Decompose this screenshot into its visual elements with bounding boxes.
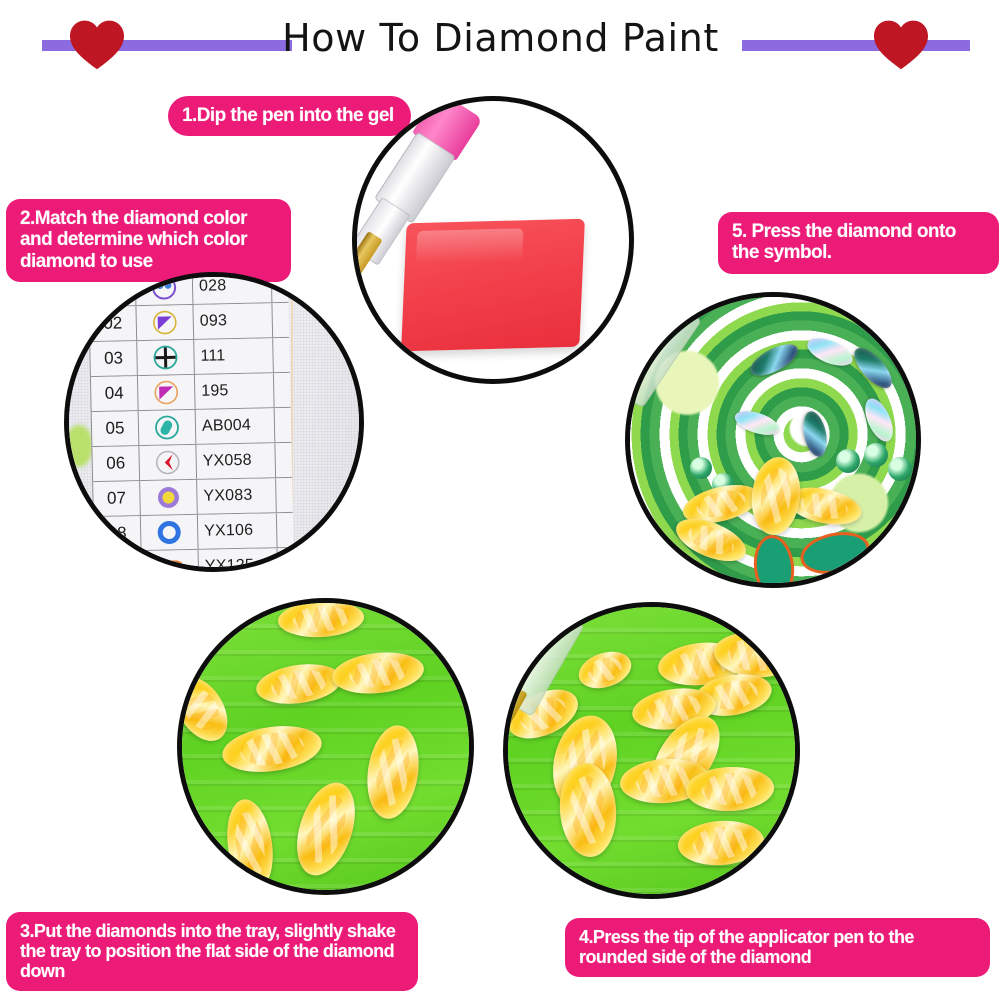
cell-dmc: AB004: [196, 408, 276, 444]
symbol-legend-table: 01 028 02 093: [88, 272, 295, 572]
cell-code: 04: [90, 376, 139, 411]
cell-code: 06: [91, 446, 140, 481]
cell-dmc: 093: [193, 303, 273, 339]
capsule-teal-icon: [139, 410, 197, 445]
photo-diamonds-in-tray: [177, 598, 474, 895]
round-diamond: [864, 443, 888, 467]
photo-symbol-chart: 01 028 02 093: [64, 272, 364, 572]
ring-blue-icon: [141, 515, 199, 550]
cell-code: 01: [88, 272, 137, 306]
triangle-flag-purple-icon: [136, 305, 194, 340]
step-3-caption: 3.Put the diamonds into the tray, slight…: [6, 912, 418, 991]
round-diamond: [690, 457, 712, 479]
photo-pen-dipping-gel: [352, 96, 634, 384]
step-4-caption: 4.Press the tip of the applicator pen to…: [565, 918, 990, 977]
scene-tray: [182, 603, 469, 890]
plus-cross-teal-icon: [137, 340, 195, 375]
cell-dmc: 028: [193, 272, 273, 304]
table-row: 05 AB004: [91, 408, 292, 447]
chevron-left-red-icon: [139, 445, 197, 480]
step-2-caption: 2.Match the diamond color and determine …: [6, 199, 291, 282]
scene-mandala: [630, 297, 916, 583]
cell-dmc: 111: [194, 338, 274, 374]
cell-dmc: YX083: [197, 478, 277, 514]
page-title: How To Diamond Paint: [0, 16, 1001, 60]
cell-code: 03: [89, 341, 138, 376]
cell-dmc: 195: [195, 373, 275, 409]
round-diamond: [836, 449, 860, 473]
photo-pen-picking-diamond: [503, 602, 800, 899]
triangle-flag-magenta-icon: [138, 375, 196, 410]
photo-press-diamond-canvas: [625, 292, 921, 588]
eyes-purple-icon: [136, 272, 194, 305]
header-banner: How To Diamond Paint: [0, 0, 1001, 88]
cell-code: 08: [93, 516, 142, 551]
table-row: 07 YX083: [92, 478, 293, 517]
table-row: 02 093: [88, 303, 289, 342]
scene-gel: [357, 101, 629, 379]
scene-tray-pen: [508, 607, 795, 894]
canvas-print-blob: [65, 425, 93, 467]
cell-code: 09: [94, 551, 143, 572]
cell-code: 02: [88, 306, 137, 341]
cell-dmc: YX058: [196, 443, 276, 479]
table-row: 03 111: [89, 338, 290, 377]
cell-dmc: YX106: [198, 513, 278, 549]
table-row: 01 028: [88, 272, 289, 307]
cell-dmc: YX125: [199, 548, 279, 572]
round-diamond: [888, 457, 912, 481]
table-row: 06 YX058: [91, 443, 292, 482]
cell-code: 05: [91, 411, 140, 446]
scene-canvas-chart: 01 028 02 093: [69, 277, 359, 567]
dot-yellow-purple-icon: [140, 480, 198, 515]
cell-code: 07: [92, 481, 141, 516]
step-5-caption: 5. Press the diamond onto the symbol.: [718, 212, 999, 274]
leaf-teal-orange-icon: [142, 550, 200, 572]
table-row: 09 YX125: [94, 548, 295, 572]
gel-pad: [401, 219, 585, 352]
table-row: 04 195: [90, 373, 291, 412]
table-row: 08 YX106: [93, 513, 294, 552]
